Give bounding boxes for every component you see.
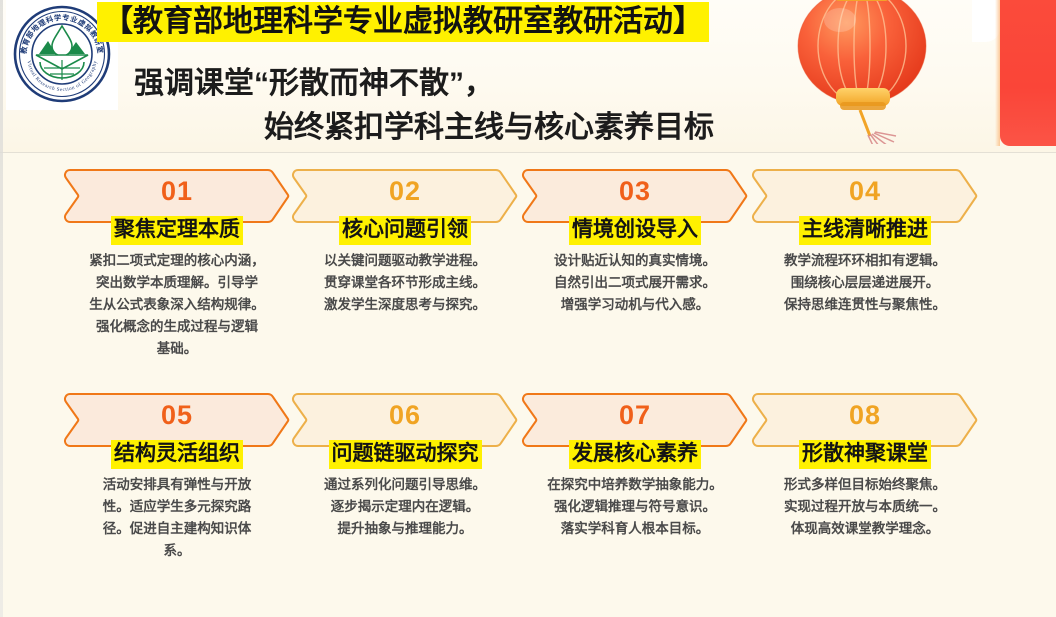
card-body-line: 通过系列化问题引导思维。 [296, 474, 514, 496]
card-row-2: 05结构灵活组织活动安排具有弹性与开放性。适应学生多元探究路径。促进自主建构知识… [0, 390, 1056, 614]
card-number: 03 [520, 176, 750, 206]
card-body-line: 激发学生深度思考与探究。 [296, 294, 514, 316]
card-number: 01 [62, 176, 292, 206]
feature-card-04[interactable]: 04主线清晰推进教学流程环环相扣有逻辑。围绕核心层层递进展开。保持思维连贯性与聚… [750, 166, 980, 390]
card-title-wrap: 聚焦定理本质 [62, 216, 292, 245]
card-body-line: 强化概念的生成过程与逻辑 [68, 316, 286, 338]
card-body-line: 提升抽象与推理能力。 [296, 518, 514, 540]
card-body-line: 系。 [68, 540, 286, 562]
header-banner-text: 【教育部地理科学专业虚拟教研室教研活动】 [103, 6, 703, 38]
card-body-line: 活动安排具有弹性与开放 [68, 474, 286, 496]
card-title-wrap: 核心问题引领 [290, 216, 520, 245]
card-body-line: 径。促进自主建构知识体 [68, 518, 286, 540]
card-title: 情境创设导入 [569, 216, 701, 245]
card-body-line: 贯穿课堂各环节形成主线。 [296, 272, 514, 294]
card-body-line: 体现高效课堂教学理念。 [756, 518, 974, 540]
feature-card-05[interactable]: 05结构灵活组织活动安排具有弹性与开放性。适应学生多元探究路径。促进自主建构知识… [62, 390, 292, 614]
card-body-text: 紧扣二项式定理的核心内涵，突出数学本质理解。引导学生从公式表象深入结构规律。强化… [68, 250, 286, 360]
card-body-text: 教学流程环环相扣有逻辑。围绕核心层层递进展开。保持思维连贯性与聚焦性。 [756, 250, 974, 316]
card-body-line: 逐步揭示定理内在逻辑。 [296, 496, 514, 518]
card-title: 结构灵活组织 [111, 440, 243, 469]
card-body-line: 保持思维连贯性与聚焦性。 [756, 294, 974, 316]
card-body-line: 突出数学本质理解。引导学 [68, 272, 286, 294]
card-title: 问题链驱动探究 [329, 440, 482, 469]
card-title-wrap: 发展核心素养 [520, 440, 750, 469]
card-body-line: 以关键问题驱动教学进程。 [296, 250, 514, 272]
background-divider-line [0, 152, 1056, 153]
page-title-line-1: 强调课堂“形散而神不散”， [112, 62, 922, 106]
card-body-text: 在探究中培养数学抽象能力。强化逻辑推理与符号意识。落实学科育人根本目标。 [526, 474, 744, 540]
feature-card-07[interactable]: 07发展核心素养在探究中培养数学抽象能力。强化逻辑推理与符号意识。落实学科育人根… [520, 390, 750, 614]
card-body-text: 活动安排具有弹性与开放性。适应学生多元探究路径。促进自主建构知识体系。 [68, 474, 286, 562]
card-number: 08 [750, 400, 980, 430]
card-title: 主线清晰推进 [799, 216, 931, 245]
card-body-line: 增强学习动机与代入感。 [526, 294, 744, 316]
card-title-wrap: 主线清晰推进 [750, 216, 980, 245]
card-title-wrap: 问题链驱动探究 [290, 440, 520, 469]
red-corner-block [1000, 0, 1056, 146]
card-title: 发展核心素养 [569, 440, 701, 469]
card-title-wrap: 形散神聚课堂 [750, 440, 980, 469]
header-banner: 【教育部地理科学专业虚拟教研室教研活动】 [97, 2, 709, 42]
card-body-line: 在探究中培养数学抽象能力。 [526, 474, 744, 496]
card-body-line: 生从公式表象深入结构规律。 [68, 294, 286, 316]
card-number: 05 [62, 400, 292, 430]
card-body-line: 教学流程环环相扣有逻辑。 [756, 250, 974, 272]
feature-card-01[interactable]: 01聚焦定理本质紧扣二项式定理的核心内涵，突出数学本质理解。引导学生从公式表象深… [62, 166, 292, 390]
card-body-text: 通过系列化问题引导思维。逐步揭示定理内在逻辑。提升抽象与推理能力。 [296, 474, 514, 540]
card-body-line: 基础。 [68, 338, 286, 360]
card-body-line: 强化逻辑推理与符号意识。 [526, 496, 744, 518]
card-body-line: 自然引出二项式展开需求。 [526, 272, 744, 294]
card-body-text: 设计贴近认知的真实情境。自然引出二项式展开需求。增强学习动机与代入感。 [526, 250, 744, 316]
card-number: 07 [520, 400, 750, 430]
card-title: 形散神聚课堂 [799, 440, 931, 469]
feature-card-03[interactable]: 03情境创设导入设计贴近认知的真实情境。自然引出二项式展开需求。增强学习动机与代… [520, 166, 750, 390]
card-title: 聚焦定理本质 [111, 216, 243, 245]
card-body-text: 形式多样但目标始终聚焦。实现过程开放与本质统一。体现高效课堂教学理念。 [756, 474, 974, 540]
card-body-text: 以关键问题驱动教学进程。贯穿课堂各环节形成主线。激发学生深度思考与探究。 [296, 250, 514, 316]
card-title-wrap: 情境创设导入 [520, 216, 750, 245]
card-body-line: 落实学科育人根本目标。 [526, 518, 744, 540]
card-number: 04 [750, 176, 980, 206]
card-body-line: 紧扣二项式定理的核心内涵， [68, 250, 286, 272]
card-row-1: 01聚焦定理本质紧扣二项式定理的核心内涵，突出数学本质理解。引导学生从公式表象深… [0, 166, 1056, 390]
card-number: 02 [290, 176, 520, 206]
page-title-line-2: 始终紧扣学科主线与核心素养目标 [112, 106, 922, 150]
card-body-line: 设计贴近认知的真实情境。 [526, 250, 744, 272]
feature-card-06[interactable]: 06问题链驱动探究通过系列化问题引导思维。逐步揭示定理内在逻辑。提升抽象与推理能… [290, 390, 520, 614]
page-title: 强调课堂“形散而神不散”， 始终紧扣学科主线与核心素养目标 [112, 62, 922, 150]
card-title-wrap: 结构灵活组织 [62, 440, 292, 469]
feature-card-08[interactable]: 08形散神聚课堂形式多样但目标始终聚焦。实现过程开放与本质统一。体现高效课堂教学… [750, 390, 980, 614]
card-body-line: 形式多样但目标始终聚焦。 [756, 474, 974, 496]
card-body-line: 围绕核心层层递进展开。 [756, 272, 974, 294]
card-title: 核心问题引领 [339, 216, 471, 245]
feature-card-02[interactable]: 02核心问题引领以关键问题驱动教学进程。贯穿课堂各环节形成主线。激发学生深度思考… [290, 166, 520, 390]
slide-canvas: 教育部地理科学专业虚拟教研室 Virtual Research Section … [0, 0, 1056, 617]
card-body-line: 实现过程开放与本质统一。 [756, 496, 974, 518]
card-number: 06 [290, 400, 520, 430]
card-grid: 01聚焦定理本质紧扣二项式定理的核心内涵，突出数学本质理解。引导学生从公式表象深… [0, 166, 1056, 614]
card-body-line: 性。适应学生多元探究路 [68, 496, 286, 518]
